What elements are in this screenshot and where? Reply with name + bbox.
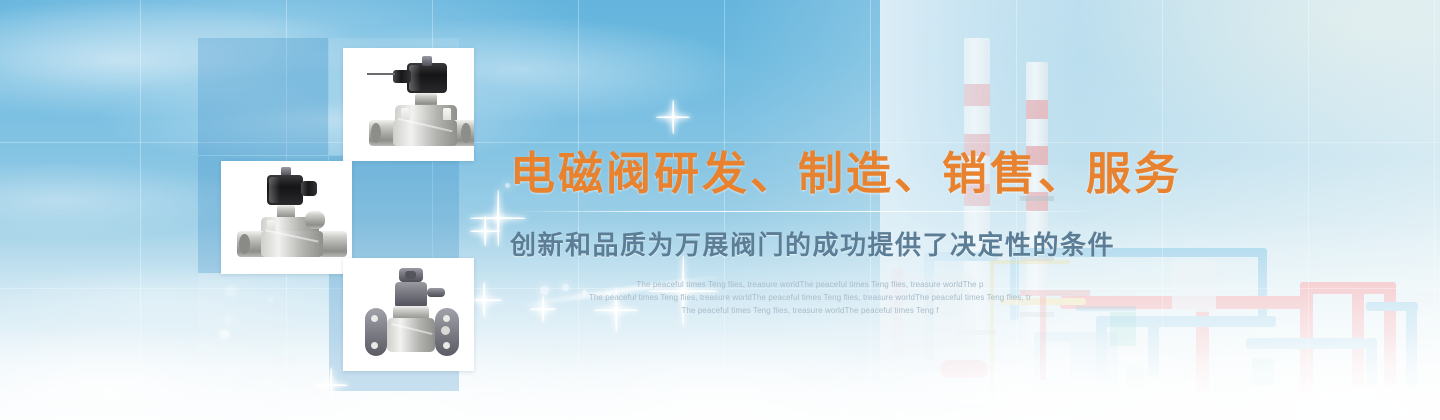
blurb-line: The peaceful times Teng flies, treasure … <box>510 305 1110 318</box>
bokeh-dot <box>268 296 274 302</box>
product-thumbnail[interactable] <box>221 161 352 274</box>
bokeh-dot <box>220 330 229 339</box>
solenoid-valve-threaded-brass-image <box>221 161 352 274</box>
bokeh-dot <box>226 286 236 296</box>
blurb-line: The peaceful times Teng flies, treasure … <box>510 279 1110 292</box>
product-thumbnail[interactable] <box>343 48 474 161</box>
banner-headline: 电磁阀研发、制造、销售、服务 <box>510 150 1110 199</box>
banner-blurb: The peaceful times Teng flies, treasure … <box>510 279 1110 318</box>
banner-copy: 电磁阀研发、制造、销售、服务 创新和品质为万展阀门的成功提供了决定性的条件 Th… <box>510 150 1110 317</box>
banner-subheadline: 创新和品质为万展阀门的成功提供了决定性的条件 <box>510 225 1110 262</box>
solenoid-valve-flanged-image <box>343 258 474 371</box>
blurb-line: The peaceful times Teng flies, treasure … <box>510 292 1110 305</box>
divider <box>520 211 1100 212</box>
hero-banner: 电磁阀研发、制造、销售、服务 创新和品质为万展阀门的成功提供了决定性的条件 Th… <box>0 0 1440 420</box>
bokeh-dot <box>224 316 232 324</box>
product-thumbnail[interactable] <box>343 258 474 371</box>
solenoid-valve-threaded-black-coil-image <box>343 48 474 161</box>
